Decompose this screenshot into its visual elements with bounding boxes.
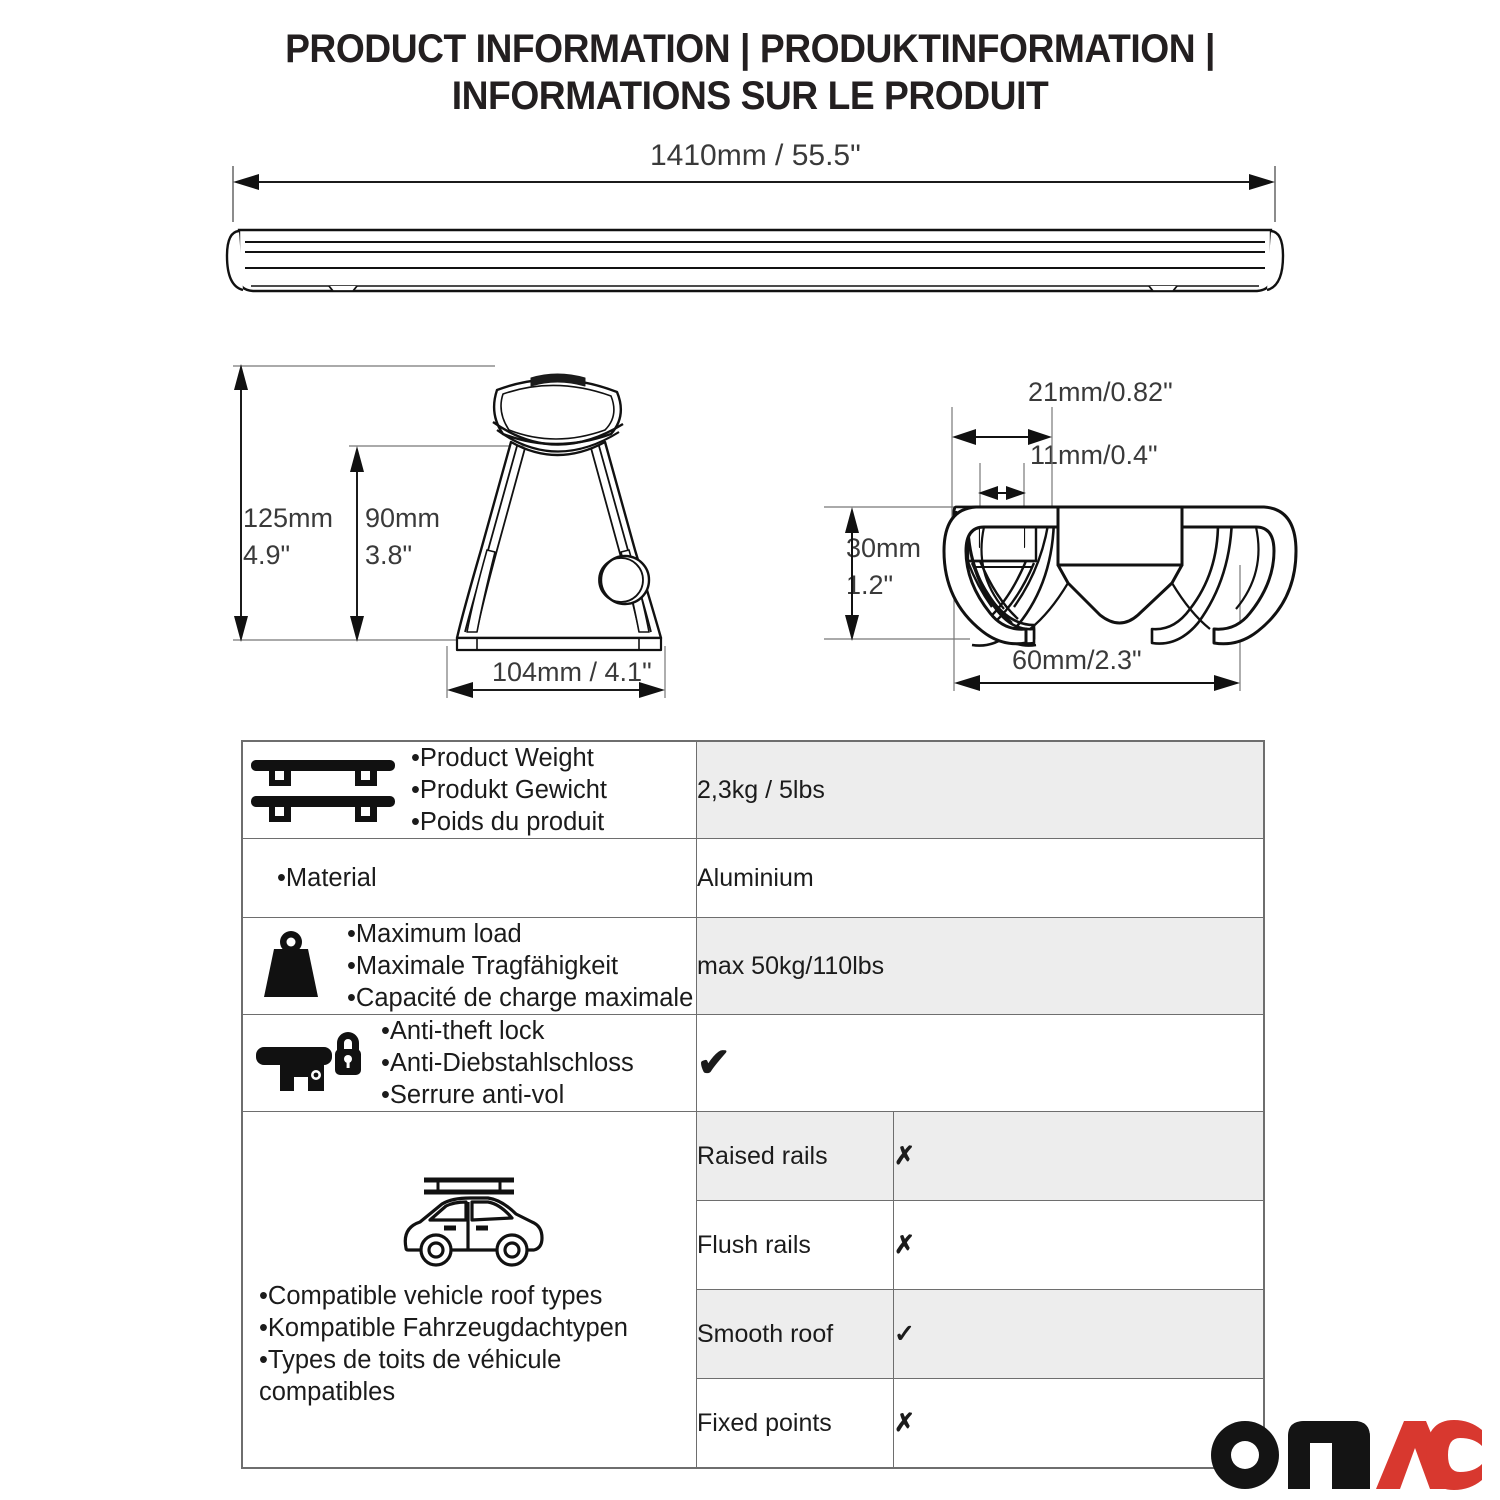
bullet-line: •Maximum load [347, 918, 693, 950]
roof-type-name: Smooth roof [697, 1290, 894, 1379]
roof-type-mark-smooth-roof: ✓ [894, 1290, 1264, 1379]
bullet-line: •Compatible vehicle roof types [259, 1280, 696, 1312]
omac-logo [1208, 1418, 1482, 1492]
bullet-line: •Poids du produit [411, 806, 607, 838]
bullet-line: •Serrure anti-vol [381, 1079, 634, 1111]
bullet-line: •Kompatible Fahrzeugdachtypen [259, 1312, 696, 1344]
row-label-material: •Material [242, 839, 697, 918]
row-value-anti-theft-lock: ✔ [697, 1015, 1265, 1112]
bullet-line: •Capacité de charge maximale [347, 982, 693, 1014]
bullet-line: •Material [277, 862, 377, 894]
two-crossbars-icon [243, 752, 403, 828]
row-label-maximum-load: •Maximum load •Maximale Tragfähigkeit •C… [242, 918, 697, 1015]
row-value-material: Aluminium [697, 839, 1265, 918]
bullet-line: •Anti-Diebstahlschloss [381, 1047, 634, 1079]
crossbar-side-view-diagram [225, 160, 1285, 310]
row-label-text-product-weight: •Product Weight •Produkt Gewicht •Poids … [411, 742, 607, 838]
bullet-line: •Types de toits de véhicule compatibles [259, 1344, 696, 1408]
roof-type-name: Flush rails [697, 1201, 894, 1290]
row-label-text-roof-types: •Compatible vehicle roof types •Kompatib… [243, 1280, 696, 1408]
page-title: PRODUCT INFORMATION | PRODUKTINFORMATION… [53, 26, 1448, 120]
foot-front-view-diagram [225, 350, 705, 700]
bullet-line: •Product Weight [411, 742, 607, 774]
roof-type-name: Fixed points [697, 1379, 894, 1468]
row-value-product-weight: 2,3kg / 5lbs [697, 741, 1265, 839]
row-label-roof-types: •Compatible vehicle roof types •Kompatib… [242, 1112, 697, 1469]
page-title-line-1: PRODUCT INFORMATION | PRODUKTINFORMATION… [53, 26, 1448, 73]
logo-letter-m [1288, 1421, 1370, 1489]
table-row: •Material Aluminium [242, 839, 1264, 918]
roof-types-subtable-cell: Raised rails ✗ Flush rails ✗ Smooth roof… [697, 1112, 1265, 1469]
check-mark-icon: ✔ [697, 1041, 731, 1085]
roof-type-mark-raised-rails: ✗ [894, 1112, 1264, 1201]
row-label-anti-theft-lock: •Anti-theft lock •Anti-Diebstahlschloss … [242, 1015, 697, 1112]
bar-padlock-icon [243, 1025, 373, 1101]
row-label-product-weight: •Product Weight •Produkt Gewicht •Poids … [242, 741, 697, 839]
bullet-line: •Produkt Gewicht [411, 774, 607, 806]
car-with-rack-icon [390, 1172, 550, 1276]
page-title-line-2: INFORMATIONS SUR LE PRODUIT [53, 73, 1448, 120]
table-row: •Anti-theft lock •Anti-Diebstahlschloss … [242, 1015, 1264, 1112]
table-row: •Maximum load •Maximale Tragfähigkeit •C… [242, 918, 1264, 1015]
table-row: •Compatible vehicle roof types •Kompatib… [242, 1112, 1264, 1469]
bar-cross-section-body [940, 505, 1300, 655]
subtable-row: Fixed points ✗ [697, 1379, 1263, 1468]
specification-table: •Product Weight •Produkt Gewicht •Poids … [241, 740, 1265, 1469]
subtable-row: Smooth roof ✓ [697, 1290, 1263, 1379]
weight-icon [243, 929, 339, 1003]
subtable-row: Flush rails ✗ [697, 1201, 1263, 1290]
roof-types-subtable: Raised rails ✗ Flush rails ✗ Smooth roof… [697, 1112, 1263, 1467]
logo-letter-o [1211, 1421, 1279, 1489]
row-label-text-material: •Material [277, 862, 377, 894]
roof-type-name: Raised rails [697, 1112, 894, 1201]
subtable-row: Raised rails ✗ [697, 1112, 1263, 1201]
row-label-text-anti-theft-lock: •Anti-theft lock •Anti-Diebstahlschloss … [381, 1015, 634, 1111]
roof-type-mark-flush-rails: ✗ [894, 1201, 1264, 1290]
logo-letter-c [1426, 1420, 1482, 1490]
table-row: •Product Weight •Produkt Gewicht •Poids … [242, 741, 1264, 839]
row-value-maximum-load: max 50kg/110lbs [697, 918, 1265, 1015]
bullet-line: •Anti-theft lock [381, 1015, 634, 1047]
bullet-line: •Maximale Tragfähigkeit [347, 950, 693, 982]
row-label-text-maximum-load: •Maximum load •Maximale Tragfähigkeit •C… [347, 918, 693, 1014]
